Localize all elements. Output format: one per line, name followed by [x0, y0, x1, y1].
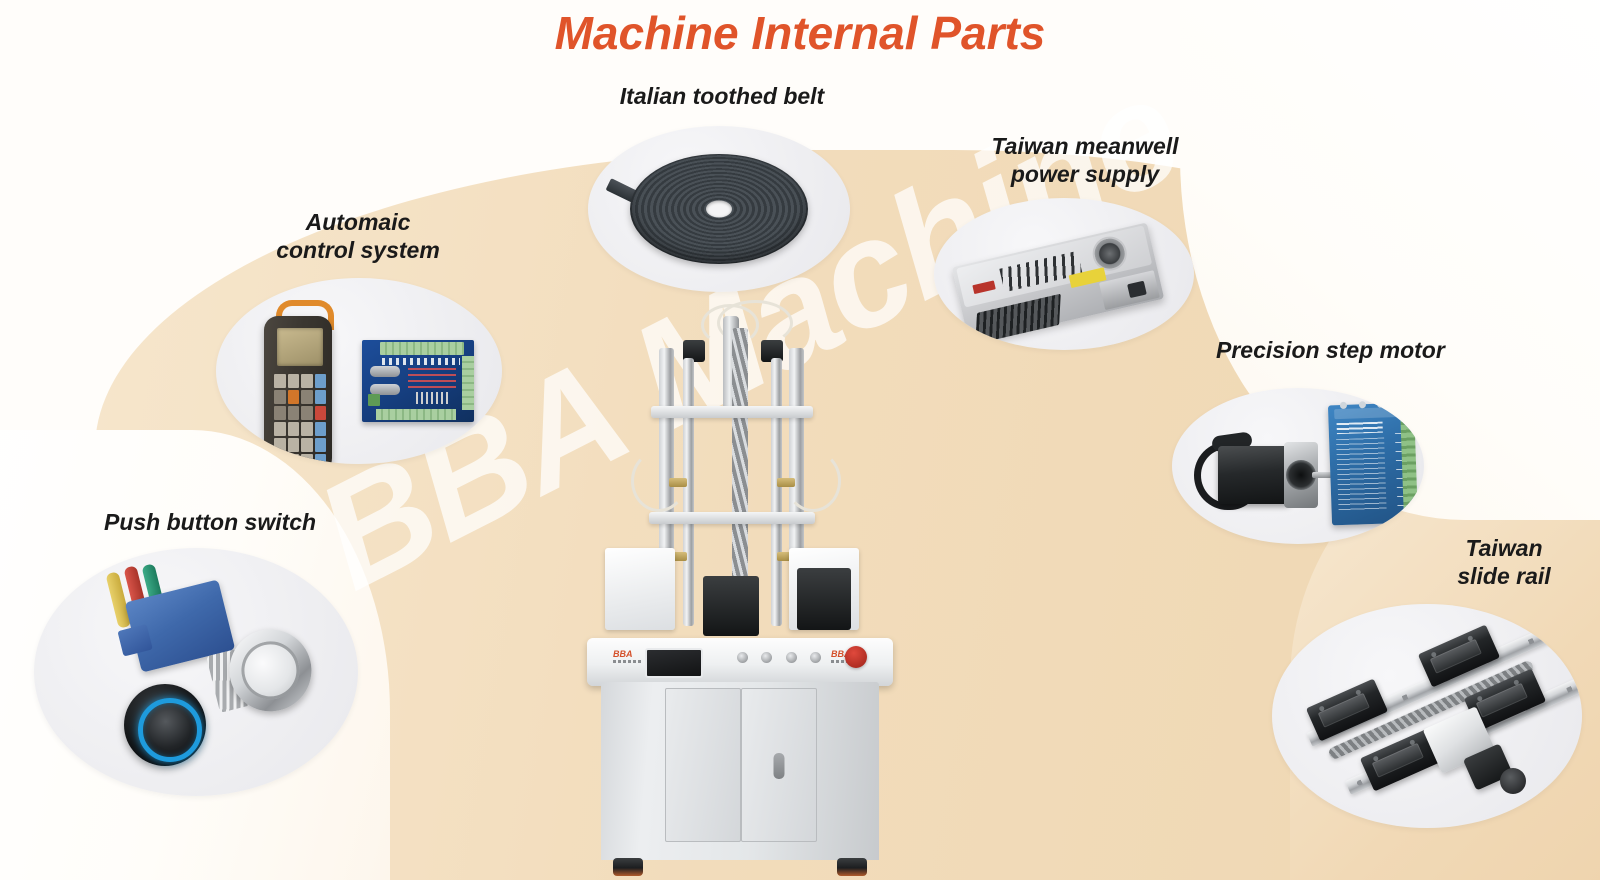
servo-drive-icon [1328, 403, 1414, 526]
key [301, 422, 313, 436]
machine-cabinet [601, 682, 879, 860]
key [274, 390, 286, 404]
emergency-stop-button[interactable] [845, 646, 867, 668]
key [315, 390, 327, 404]
bubble-slide-rail [1272, 604, 1582, 828]
key [315, 406, 327, 420]
cabinet-handle[interactable] [774, 753, 785, 779]
guide-rod [771, 358, 782, 626]
leveling-foot [613, 858, 643, 876]
key [288, 390, 300, 404]
drive-terminal-block [1400, 416, 1417, 512]
pendant-keypad [274, 374, 326, 464]
key [288, 454, 300, 464]
key [288, 406, 300, 420]
belt-coil-icon [630, 154, 808, 264]
key [288, 374, 300, 388]
panel-button[interactable] [737, 652, 748, 663]
brand-logo-text: BBA [613, 650, 643, 658]
illuminated-button-icon [124, 684, 206, 766]
art-slide-rail [1272, 604, 1582, 828]
bubble-push-button [34, 548, 358, 796]
block-screw [1476, 695, 1483, 702]
drive-top-label [1334, 407, 1404, 419]
key [315, 422, 327, 436]
key [301, 374, 313, 388]
key [288, 438, 300, 452]
pcb-terminal-top [380, 342, 464, 355]
air-hose [631, 450, 687, 512]
cross-plate-upper [651, 406, 813, 418]
pcb-silkscreen-text [408, 368, 456, 390]
machine-photo: BBA BBA [575, 300, 905, 870]
label-slide-rail: Taiwan slide rail [1424, 534, 1584, 590]
key [274, 438, 286, 452]
pcb-green-connector [368, 394, 380, 406]
label-step-motor: Precision step motor [1216, 336, 1466, 364]
key [274, 454, 286, 464]
art-control-system [216, 278, 502, 464]
control-board-icon [362, 340, 474, 422]
art-power-supply [934, 198, 1194, 350]
key [301, 454, 313, 464]
power-supply-icon [952, 223, 1164, 344]
air-hose [785, 450, 841, 512]
key [274, 422, 286, 436]
hmi-touchscreen[interactable] [645, 648, 703, 678]
key [315, 454, 327, 464]
key [288, 422, 300, 436]
page-title: Machine Internal Parts [0, 6, 1600, 60]
teach-pendant-icon [262, 300, 334, 464]
push-button-assembly [94, 578, 344, 768]
key [301, 438, 313, 452]
step-motor-icon [1210, 438, 1318, 512]
panel-button[interactable] [810, 652, 821, 663]
label-power-supply: Taiwan meanwell power supply [960, 132, 1210, 188]
cabinet-door-left[interactable] [665, 688, 741, 842]
coupling-hub [1500, 768, 1526, 794]
block-screw [1372, 755, 1379, 762]
panel-button[interactable] [761, 652, 772, 663]
cabinet-door-right[interactable] [741, 688, 817, 842]
belt-hole-icon [706, 201, 732, 218]
art-toothed-belt [588, 126, 850, 292]
brand-logo-sub [613, 660, 643, 663]
cross-plate-lower [649, 512, 815, 524]
key [274, 374, 286, 388]
pcb-header-row [382, 358, 460, 365]
block-screw [1467, 635, 1474, 642]
pendant-body [264, 316, 332, 464]
infographic-canvas: BBA Machine Machine Internal Parts Itali… [0, 0, 1600, 880]
panel-button[interactable] [786, 652, 797, 663]
pcb-terminal-right [462, 356, 474, 410]
label-push-button: Push button switch [104, 508, 364, 536]
art-step-motor [1172, 388, 1424, 544]
block-screw [1355, 689, 1362, 696]
machine-worktop: BBA BBA [587, 638, 893, 686]
leveling-foot [837, 858, 867, 876]
motor-body [1218, 446, 1290, 504]
art-push-button [34, 548, 358, 796]
block-screw [1430, 651, 1437, 658]
key [301, 390, 313, 404]
block-screw [1513, 679, 1520, 686]
pendant-screen [277, 328, 323, 366]
brand-logo-left: BBA [613, 650, 643, 664]
bubble-control-system [216, 278, 502, 464]
drive-dip-table [1336, 438, 1387, 514]
pcb-terminal-bottom [376, 409, 456, 420]
label-toothed-belt: Italian toothed belt [612, 82, 832, 110]
motor-shaft [1312, 472, 1332, 478]
block-screw [1318, 705, 1325, 712]
bubble-toothed-belt [588, 126, 850, 292]
key [274, 406, 286, 420]
key [315, 438, 327, 452]
key [315, 374, 327, 388]
center-fixture [703, 576, 759, 636]
right-fixture [797, 568, 851, 630]
left-fixture-box [605, 548, 675, 630]
label-control-system: Automaic control system [250, 208, 466, 264]
panel-button-row[interactable] [737, 652, 821, 670]
bubble-power-supply [934, 198, 1194, 350]
key [301, 406, 313, 420]
pcb-chips [416, 392, 450, 404]
drive-model-text [1337, 422, 1383, 435]
pcb-db9-connector [370, 366, 400, 377]
block-screw [1409, 739, 1416, 746]
bubble-step-motor [1172, 388, 1424, 544]
